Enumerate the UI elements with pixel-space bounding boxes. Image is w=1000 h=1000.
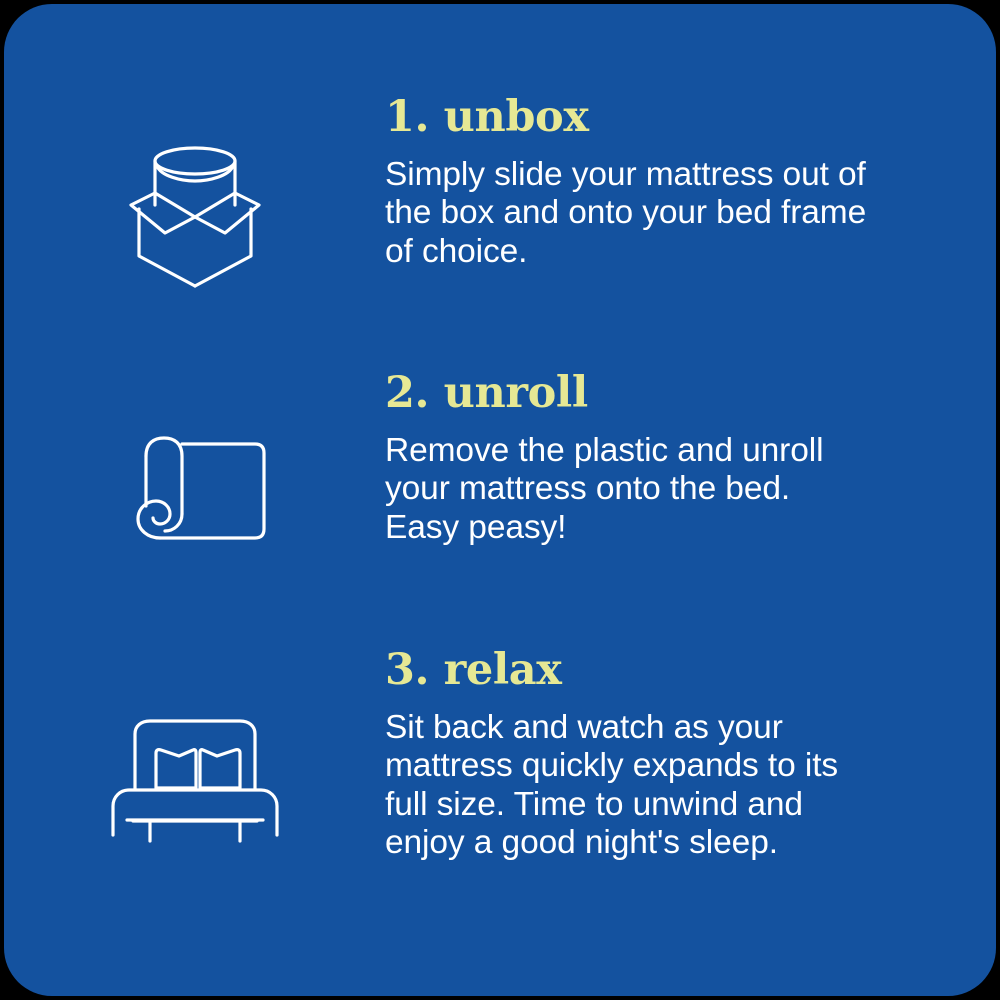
step-body-unroll: Remove the plastic and unroll your mattr…	[385, 432, 925, 548]
body-line: of choice.	[385, 233, 925, 272]
body-line: full size. Time to unwind and	[385, 786, 925, 825]
step-text-container-relax: 3. relax Sit back and watch as your matt…	[385, 649, 996, 863]
step-item-relax: 3. relax Sit back and watch as your matt…	[4, 649, 996, 863]
rolled-mattress-unrolling-icon	[122, 434, 268, 542]
bed-with-pillows-icon	[109, 717, 281, 845]
step-icon-container-unroll	[4, 372, 385, 542]
body-line: the box and onto your bed frame	[385, 194, 925, 233]
step-text-container-unbox: 1. unbox Simply slide your mattress out …	[385, 96, 996, 271]
step-title-unroll: 2. unroll	[385, 372, 966, 416]
step-item-unbox: 1. unbox Simply slide your mattress out …	[4, 96, 996, 295]
step-title-relax: 3. relax	[385, 649, 966, 693]
body-line: Simply slide your mattress out of	[385, 156, 925, 195]
step-icon-container-unbox	[4, 96, 385, 295]
step-title-unbox: 1. unbox	[385, 96, 966, 140]
body-line: mattress quickly expands to its	[385, 747, 925, 786]
body-line: Sit back and watch as your	[385, 709, 925, 748]
step-icon-container-relax	[4, 649, 385, 845]
open-box-with-rolled-mattress-icon	[125, 130, 265, 295]
body-line: Easy peasy!	[385, 509, 925, 548]
step-body-unbox: Simply slide your mattress out of the bo…	[385, 156, 925, 272]
body-line: your mattress onto the bed.	[385, 470, 925, 509]
step-body-relax: Sit back and watch as your mattress quic…	[385, 709, 925, 863]
step-item-unroll: 2. unroll Remove the plastic and unroll …	[4, 372, 996, 547]
step-text-container-unroll: 2. unroll Remove the plastic and unroll …	[385, 372, 996, 547]
body-line: Remove the plastic and unroll	[385, 432, 925, 471]
body-line: enjoy a good night's sleep.	[385, 824, 925, 863]
instruction-card: 1. unbox Simply slide your mattress out …	[4, 4, 996, 996]
